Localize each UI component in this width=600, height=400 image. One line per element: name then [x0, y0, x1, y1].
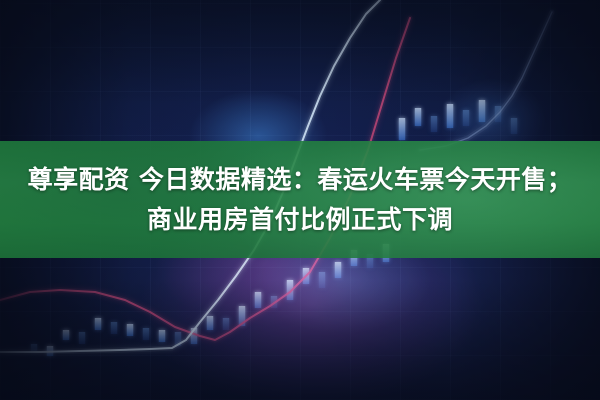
headline-text: 尊享配资 今日数据精选：春运火车票今天开售； 商业用房首付比例正式下调 [0, 141, 600, 258]
headline-line-2: 商业用房首付比例正式下调 [147, 202, 453, 238]
banner-image: 尊享配资 今日数据精选：春运火车票今天开售； 商业用房首付比例正式下调 [0, 0, 600, 400]
headline-line-1: 尊享配资 今日数据精选：春运火车票今天开售； [28, 162, 573, 198]
